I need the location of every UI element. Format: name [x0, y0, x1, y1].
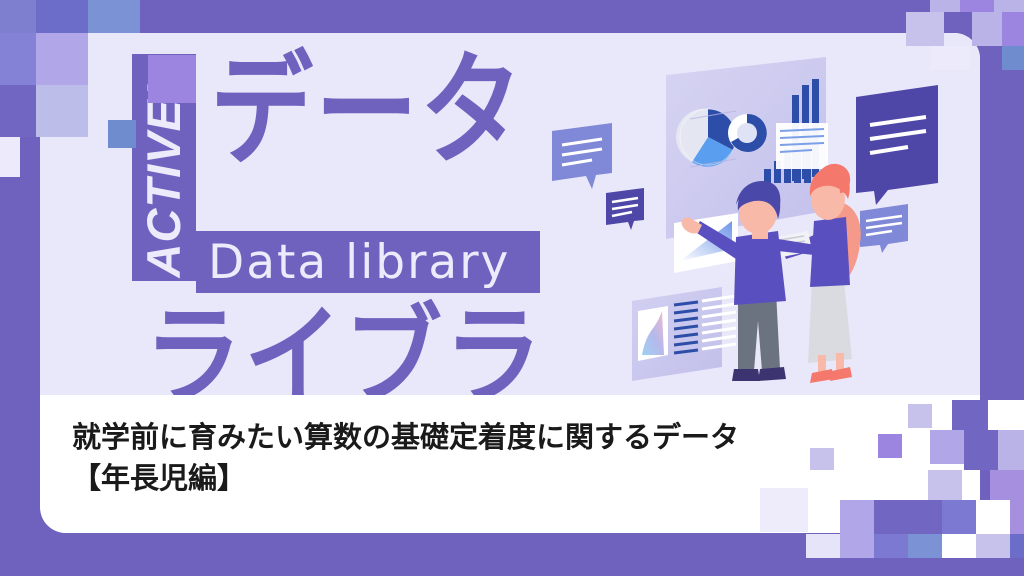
mosaic-tr-square-1 — [960, 0, 994, 12]
data-library-band: Data library — [196, 231, 553, 293]
mosaic-br-square-22 — [810, 448, 834, 470]
mosaic-tr-square-6 — [930, 46, 970, 70]
mosaic-br-square-13 — [806, 534, 840, 558]
mosaic-tl-square-2 — [88, 0, 140, 33]
hero-illustration — [540, 33, 980, 395]
mosaic-br-square-18 — [976, 534, 1010, 558]
mosaic-br-square-3 — [964, 430, 998, 470]
mosaic-br-square-12 — [1010, 500, 1024, 534]
mosaic-tl-square-5 — [0, 85, 36, 137]
mosaic-br-square-20 — [878, 434, 902, 458]
page-title: 就学前に育みたい算数の基礎定着度に関するデータ 【年長児編】 — [72, 417, 932, 499]
mosaic-tr-square-0 — [930, 0, 960, 12]
mosaic-tl-square-0 — [0, 0, 36, 33]
logo-kana-data: データ — [210, 49, 525, 172]
mosaic-tr-square-5 — [1002, 12, 1024, 46]
mosaic-br-square-19 — [1010, 534, 1024, 558]
mosaic-tl-square-3 — [0, 33, 36, 85]
mosaic-tl-square-7 — [0, 137, 20, 177]
mosaic-tl-square-8 — [148, 55, 196, 103]
illustration-svg — [540, 33, 980, 395]
text-block-light — [776, 123, 828, 169]
mosaic-br-square-6 — [928, 470, 962, 504]
mosaic-br-square-15 — [874, 534, 908, 558]
mosaic-tl-square-9 — [108, 120, 136, 148]
mosaic-br-square-7 — [990, 470, 1024, 504]
content-card: ACTIVE! データ Data library ライブラリ — [40, 33, 980, 533]
mosaic-tl-square-4 — [36, 33, 88, 85]
mosaic-br-square-16 — [908, 534, 942, 558]
mosaic-br-square-11 — [976, 500, 1010, 534]
mosaic-tl-square-1 — [36, 0, 88, 33]
mosaic-br-square-17 — [942, 534, 976, 558]
mosaic-br-square-4 — [998, 430, 1024, 470]
card-title-area: 就学前に育みたい算数の基礎定着度に関するデータ 【年長児編】 — [40, 395, 980, 533]
banner-root: ACTIVE! データ Data library ライブラリ — [0, 0, 1024, 576]
mosaic-tr-square-4 — [972, 12, 1002, 46]
mosaic-br-square-8 — [840, 500, 874, 534]
mosaic-tr-square-3 — [906, 12, 944, 46]
mosaic-br-square-14 — [840, 534, 874, 558]
mosaic-br-square-1 — [988, 400, 1024, 430]
mosaic-br-square-21 — [760, 488, 808, 532]
mosaic-tr-square-7 — [1002, 46, 1024, 70]
list-panel — [632, 287, 736, 381]
mosaic-br-square-23 — [908, 404, 932, 428]
mosaic-tl-square-6 — [36, 85, 88, 137]
data-library-label: Data library — [208, 231, 553, 293]
mosaic-br-square-10 — [942, 500, 976, 534]
mosaic-br-square-2 — [930, 430, 964, 464]
mosaic-br-square-9 — [874, 500, 942, 534]
donut-chart — [728, 114, 767, 152]
mosaic-tr-square-2 — [994, 0, 1024, 12]
page-title-line1: 就学前に育みたい算数の基礎定着度に関するデータ — [72, 417, 932, 458]
